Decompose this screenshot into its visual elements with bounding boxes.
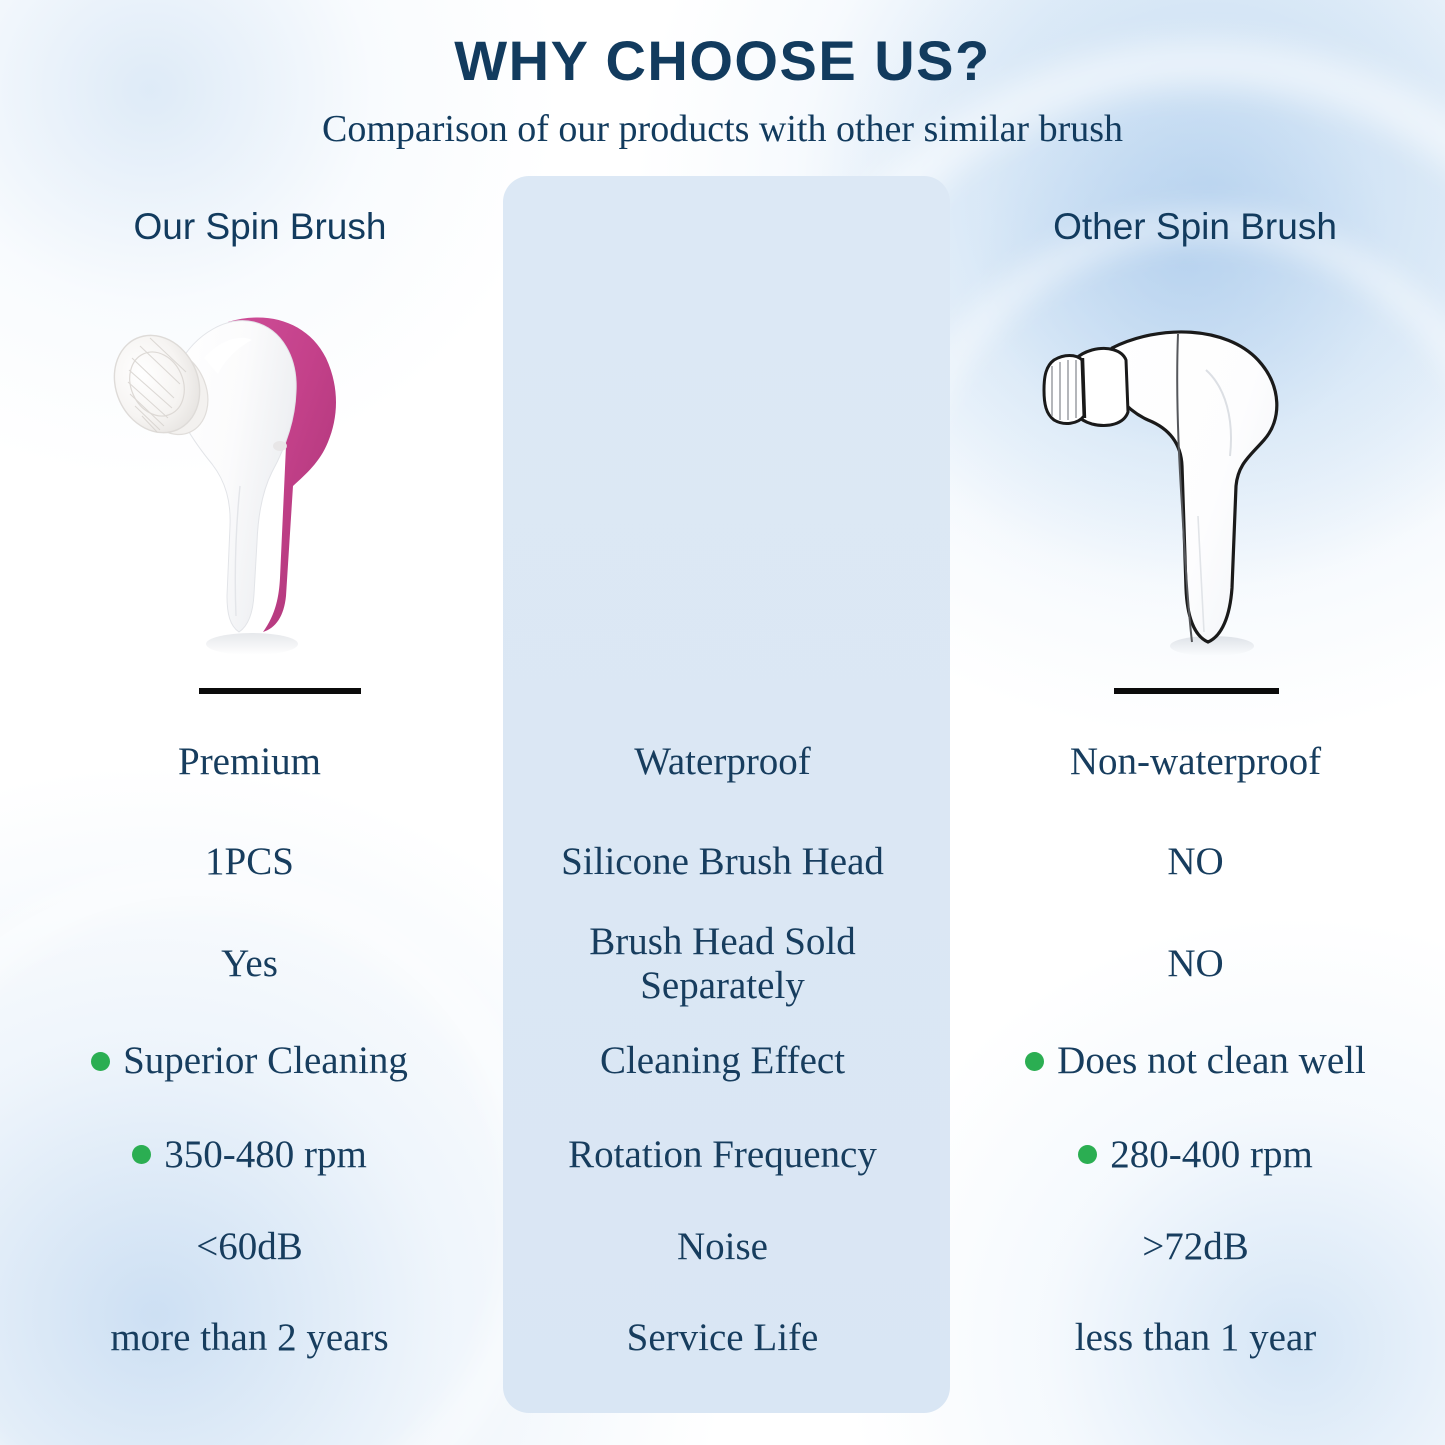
row-1-ours: 1PCS [0,839,499,885]
row-5-feature-label: Noise [677,1224,768,1270]
row-4-other: 280-400 rpm [946,1132,1445,1178]
row-2-other: NO [946,941,1445,987]
table-row: Premium Waterproof Non-waterproof [0,712,1445,812]
row-2-ours: Yes [0,941,499,987]
row-3-feature-label: Cleaning Effect [600,1038,845,1084]
page-header: WHY CHOOSE US? Comparison of our product… [0,0,1445,152]
column-header-other-spin-brush: Other Spin Brush [995,206,1395,248]
row-2-other-value: NO [1167,941,1223,987]
row-6-other-value: less than 1 year [1075,1315,1317,1361]
row-2-feature: Brush Head Sold Separately [499,920,946,1008]
row-3-ours: Superior Cleaning [0,1038,499,1084]
row-0-other-value: Non-waterproof [1070,739,1321,785]
page-title: WHY CHOOSE US? [0,30,1445,93]
row-5-ours: <60dB [0,1224,499,1270]
page-subtitle: Comparison of our products with other si… [0,107,1445,153]
row-0-ours-value: Premium [178,739,321,785]
row-2-feature-label-line1: Brush Head Sold [589,920,856,964]
row-1-other: NO [946,839,1445,885]
other-spin-brush-product-image [1030,316,1350,666]
row-0-feature: Waterproof [499,739,946,785]
row-1-ours-value: 1PCS [205,839,294,885]
bullet-icon [132,1145,151,1164]
row-3-ours-value: Superior Cleaning [123,1038,408,1084]
bullet-icon [1078,1145,1097,1164]
row-1-feature-label: Silicone Brush Head [561,839,884,885]
divider-right [1114,688,1279,694]
row-4-feature: Rotation Frequency [499,1132,946,1178]
table-row: Yes Brush Head Sold Separately NO [0,913,1445,1015]
row-3-feature: Cleaning Effect [499,1038,946,1084]
table-row: 350-480 rpm Rotation Frequency 280-400 r… [0,1108,1445,1202]
row-6-ours-value: more than 2 years [110,1315,388,1361]
bullet-icon [1025,1052,1044,1071]
table-row: 1PCS Silicone Brush Head NO [0,812,1445,913]
row-0-other: Non-waterproof [946,739,1445,785]
row-5-feature: Noise [499,1224,946,1270]
row-3-other-value: Does not clean well [1057,1038,1366,1084]
row-4-ours: 350-480 rpm [0,1132,499,1178]
row-4-other-value: 280-400 rpm [1110,1132,1313,1178]
row-1-feature: Silicone Brush Head [499,839,946,885]
row-0-feature-label: Waterproof [634,739,811,785]
row-4-ours-value: 350-480 rpm [164,1132,367,1178]
table-row: more than 2 years Service Life less than… [0,1292,1445,1384]
bullet-icon [91,1052,110,1071]
row-2-feature-label-line2: Separately [589,964,856,1008]
row-6-ours: more than 2 years [0,1315,499,1361]
row-5-ours-value: <60dB [196,1224,303,1270]
row-4-feature-label: Rotation Frequency [568,1132,877,1178]
row-6-other: less than 1 year [946,1315,1445,1361]
table-row: <60dB Noise >72dB [0,1202,1445,1292]
row-6-feature-label: Service Life [627,1315,819,1361]
row-5-other: >72dB [946,1224,1445,1270]
row-6-feature: Service Life [499,1315,946,1361]
row-5-other-value: >72dB [1142,1224,1249,1270]
table-row: Superior Cleaning Cleaning Effect Does n… [0,1015,1445,1108]
row-3-other: Does not clean well [946,1038,1445,1084]
infographic-canvas: WHY CHOOSE US? Comparison of our product… [0,0,1445,1445]
column-header-our-spin-brush: Our Spin Brush [60,206,460,248]
row-1-other-value: NO [1167,839,1223,885]
comparison-table: Premium Waterproof Non-waterproof 1PCS S… [0,712,1445,1384]
row-2-ours-value: Yes [221,941,278,987]
row-0-ours: Premium [0,739,499,785]
divider-left [199,688,361,694]
our-spin-brush-product-image [100,296,430,666]
